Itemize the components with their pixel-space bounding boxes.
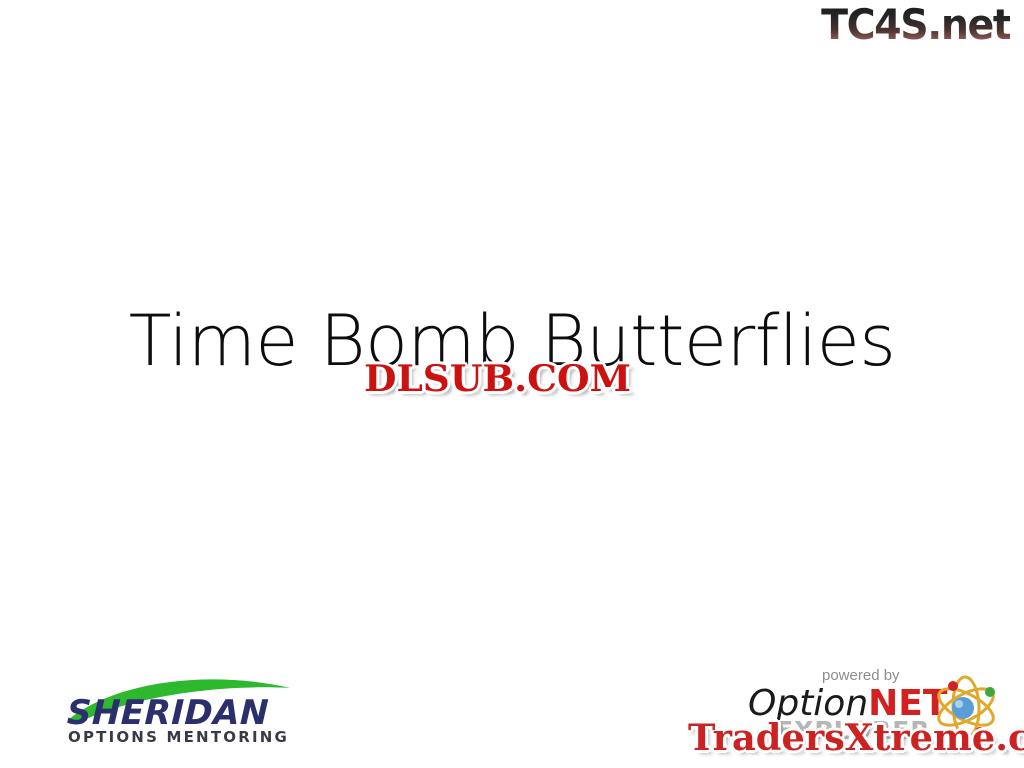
tc4s-logo: TC4S.net [821,4,1010,46]
tradersxtreme-watermark: TradersXtreme.com [688,720,1024,756]
presentation-slide: TC4S.net Time Bomb Butterflies DLSUB.COM… [0,0,1024,768]
sheridan-tagline: OPTIONS MENTORING [68,730,289,745]
dlsub-watermark: DLSUB.COM [364,361,631,397]
powered-by-label: powered by [822,668,900,683]
sheridan-name: SHERIDAN [66,696,269,730]
sheridan-logo: SHERIDAN OPTIONS MENTORING [62,674,297,750]
